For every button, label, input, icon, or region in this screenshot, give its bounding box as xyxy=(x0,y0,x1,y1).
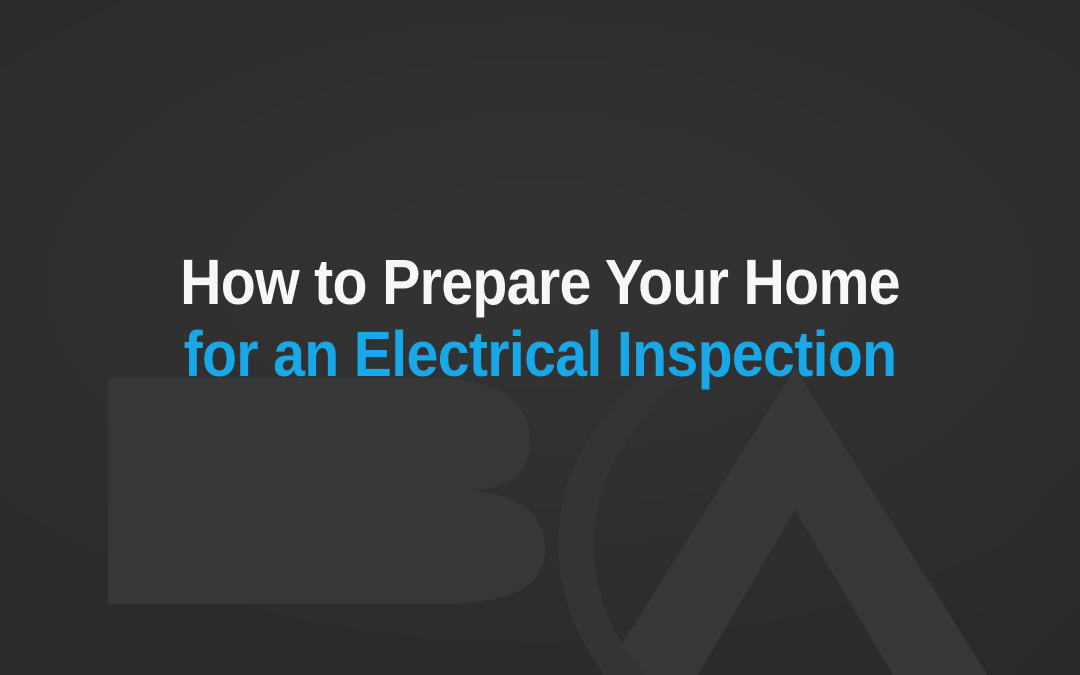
watermark-letter-a-shoulder xyxy=(558,372,690,675)
headline-block: How to Prepare Your Home for an Electric… xyxy=(0,249,1080,390)
headline-line-primary: How to Prepare Your Home xyxy=(57,249,1024,317)
watermark-letter-b xyxy=(108,378,545,604)
banner-graphic: How to Prepare Your Home for an Electric… xyxy=(0,0,1080,675)
background-corner-shadow xyxy=(714,428,1080,675)
headline-line-accent: for an Electrical Inspection xyxy=(57,321,1024,389)
watermark-letter-a xyxy=(590,368,1000,675)
